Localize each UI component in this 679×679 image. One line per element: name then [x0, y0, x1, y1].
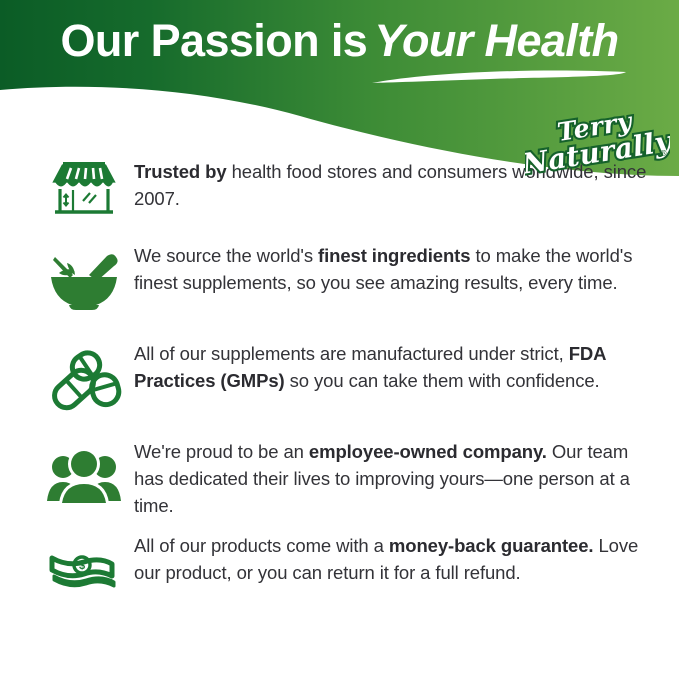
title-underline-swoosh	[370, 66, 630, 86]
promotional-infographic: Our Passion isYour Health Terry Naturall…	[0, 0, 679, 679]
list-item: We source the world's finest ingredients…	[0, 239, 679, 323]
money-cash-icon: $	[34, 529, 134, 613]
list-item: All of our supplements are manufactured …	[0, 337, 679, 423]
list-item-text-normal: We're proud to be an	[134, 441, 309, 462]
people-group-icon	[34, 435, 134, 517]
list-item: We're proud to be an employee-owned comp…	[0, 435, 679, 519]
dollar-sign-glyph: $	[79, 560, 85, 572]
list-item-text: All of our supplements are manufactured …	[134, 337, 651, 395]
list-item-text-bold: money-back guarantee.	[389, 535, 594, 556]
list-item-text-bold: employee-owned company.	[309, 441, 547, 462]
benefits-list: Trusted by health food stores and consum…	[0, 155, 679, 613]
list-item-text: All of our products come with a money-ba…	[134, 529, 651, 587]
storefront-icon	[34, 155, 134, 223]
brand-logo-terry-naturally: Terry Naturally ®	[525, 104, 670, 180]
mortar-and-pestle-icon	[34, 239, 134, 323]
list-item-text: We source the world's finest ingredients…	[134, 239, 651, 297]
title-primary: Our Passion is	[61, 15, 368, 66]
list-item-text-bold: Trusted by	[134, 161, 227, 182]
list-item-text-bold: finest ingredients	[318, 245, 470, 266]
page-title: Our Passion isYour Health	[0, 16, 679, 66]
list-item-text-normal-2: so you can take them with confidence.	[285, 370, 600, 391]
list-item-text-normal: All of our supplements are manufactured …	[134, 343, 569, 364]
list-item: $ All of our products come with a money-…	[0, 529, 679, 613]
title-emphasis: Your Health	[367, 15, 618, 66]
capsules-icon	[34, 337, 134, 423]
list-item-text-normal: We source the world's	[134, 245, 318, 266]
logo-trademark: ®	[659, 148, 668, 158]
list-item-text-normal: All of our products come with a	[134, 535, 389, 556]
list-item-text: We're proud to be an employee-owned comp…	[134, 435, 651, 519]
